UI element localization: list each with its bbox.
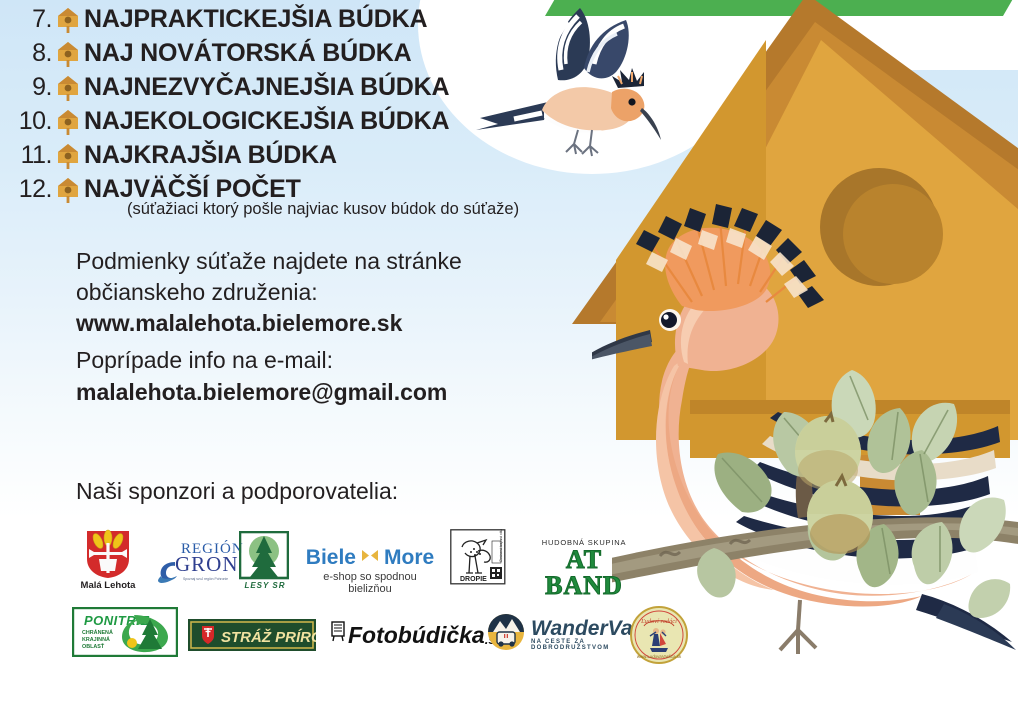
- svg-text:GRON: GRON: [175, 552, 239, 576]
- info-website[interactable]: www.malalehota.bielemore.sk: [76, 310, 402, 337]
- list-item-number: 12.: [0, 175, 57, 204]
- list-item-label: NAJKRAJŠIA BÚDKA: [84, 141, 337, 170]
- sponsor-logo-ponitrie: PONITRIE CHRÁNENÁ KRAJINNÁ OBLASŤ: [72, 607, 178, 657]
- straz-prirody-title: STRÁŽ PRÍRODY: [221, 628, 316, 646]
- biele-more-bowtie-icon: [361, 549, 379, 567]
- sponsor-logo-mala-lehota: Malá Lehota: [80, 529, 136, 591]
- ludovi-rodaci-url: www.LudovaVaslica.sk: [637, 654, 682, 659]
- info-line-2: občianskeho združenia:: [76, 279, 318, 306]
- birdhouse-icon: [57, 41, 79, 67]
- biele-more-word-1: Biele: [306, 546, 356, 570]
- poster-canvas: 7. NAJPRAKTICKEJŠIA BÚDKA 8. NAJ NOVÁTOR…: [0, 0, 1018, 720]
- fotobudicka-title: Fotobúdička: [348, 624, 485, 647]
- sponsor-logo-at-band: HUDOBNÁ SKUPINA AT BAND: [524, 538, 644, 580]
- list-item-label: NAJEKOLOGICKEJŠIA BÚDKA: [84, 107, 449, 136]
- info-line-3: Poprípade info na e-mail:: [76, 347, 333, 374]
- photobooth-icon: [330, 620, 346, 647]
- birdhouse-icon: [57, 143, 79, 169]
- dropie-caption: DROPIE: [460, 576, 487, 583]
- ludovi-rodaci-title: Ľudoví rodáci: [640, 618, 677, 625]
- list-item: 7. NAJPRAKTICKEJŠIA BÚDKA: [0, 2, 427, 37]
- sponsor-logo-ludovi-rodaci: Ľudoví rodáci www.LudovaVaslica.sk: [630, 606, 692, 664]
- flying-hoopoe-bird: [462, 2, 662, 162]
- sponsor-logo-lesy-sr: LESY SR: [239, 531, 291, 589]
- list-item: 8. NAJ NOVÁTORSKÁ BÚDKA: [0, 36, 412, 71]
- birdhouse-icon: [57, 109, 79, 135]
- biele-more-word-2: More: [384, 546, 434, 570]
- biele-more-tagline: e-shop so spodnou bielizňou: [300, 571, 440, 595]
- list-item-number: 8.: [0, 39, 57, 68]
- list-item-number: 10.: [0, 107, 57, 136]
- list-item-label: NAJPRAKTICKEJŠIA BÚDKA: [84, 5, 427, 34]
- list-item-number: 11.: [0, 141, 57, 170]
- info-line-1: Podmienky súťaže najdete na stránke: [76, 248, 462, 275]
- svg-text:OBLASŤ: OBLASŤ: [82, 642, 105, 650]
- info-email[interactable]: malalehota.bielemore@gmail.com: [76, 379, 447, 406]
- list-item-number: 7.: [0, 5, 57, 34]
- list-item-label: NAJ NOVÁTORSKÁ BÚDKA: [84, 39, 412, 68]
- list-item-label: NAJNEZVYČAJNEJŠIA BÚDKA: [84, 73, 449, 102]
- birdhouse-icon: [57, 75, 79, 101]
- birdhouse-icon: [57, 7, 79, 33]
- svg-text:KRAJINNÁ: KRAJINNÁ: [82, 636, 110, 643]
- list-item: 10. NAJEKOLOGICKEJŠIA BÚDKA: [0, 104, 449, 139]
- wandervan-tagline: NA CESTE ZA DOBRODRUŽSTVOM: [531, 639, 645, 651]
- list-item: 11. NAJKRAJŠIA BÚDKA: [0, 138, 337, 173]
- sponsor-logo-dropie: DROPIE Chránená krajinná oblasť: [450, 529, 506, 585]
- sponsor-caption: LESY SR: [239, 581, 291, 590]
- birdhouse-icon: [57, 177, 79, 203]
- at-band-title: AT BAND: [524, 547, 644, 599]
- list-item: 9. NAJNEZVYČAJNEJŠIA BÚDKA: [0, 70, 449, 105]
- sponsor-logo-biele-more: Biele More e-shop so spodnou bielizňou: [300, 546, 440, 584]
- sponsor-logo-region-gron: REGIÓN GRON Spoznaj svoJ región Pohronie: [155, 536, 247, 584]
- list-item-number: 9.: [0, 73, 57, 102]
- region-gron-tagline: Spoznaj svoJ región Pohronie: [183, 577, 228, 581]
- sponsor-logo-fotobudicka: Fotobúdička .sk: [330, 620, 470, 650]
- sponsor-caption: Malá Lehota: [80, 580, 136, 591]
- sponsors-heading: Naši sponzori a podporovatelia:: [76, 478, 398, 505]
- svg-text:CHRÁNENÁ: CHRÁNENÁ: [82, 629, 113, 636]
- wandervan-badge-icon: [487, 613, 525, 656]
- sponsor-logo-straz-prirody: STRÁŽ PRÍRODY: [188, 619, 316, 651]
- svg-text:Chránená krajinná oblasť: Chránená krajinná oblasť: [499, 529, 503, 562]
- list-note: (súťažiaci ktorý pošle najviac kusov búd…: [127, 200, 519, 219]
- wandervan-title: WanderVan: [531, 618, 645, 639]
- sponsor-logo-wandervan: WanderVan NA CESTE ZA DOBRODRUŽSTVOM: [487, 613, 637, 653]
